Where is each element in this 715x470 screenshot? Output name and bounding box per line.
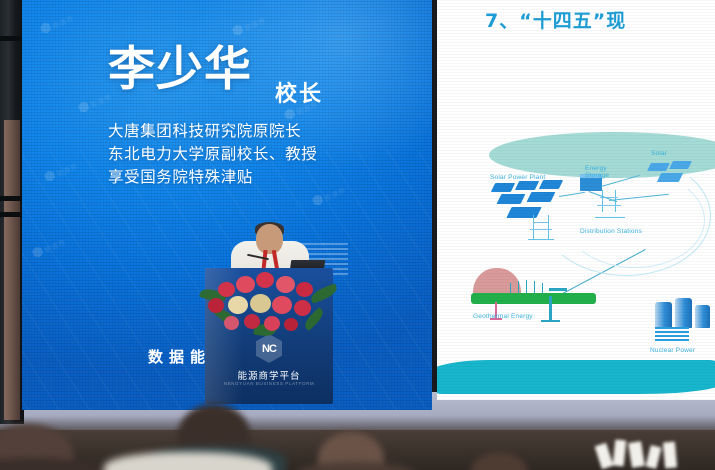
solar-panel xyxy=(497,194,526,204)
podium-logo-subtext: NENGYUAN BUSINESS PLATFORM xyxy=(205,381,333,386)
nuclear-cooling-tower xyxy=(695,305,710,328)
label-distribution-stations: Distribution Stations xyxy=(580,228,642,235)
conference-stage-scene: 能源界 能源界 能源界 能源界 能源界 能源界 能源界 能源界 李少华 校长 大… xyxy=(0,0,715,470)
geothermal-riser xyxy=(518,281,519,293)
flower-bloom xyxy=(224,316,239,330)
speaker-head xyxy=(256,224,283,254)
speaker-name: 李少华 xyxy=(108,46,252,93)
flower-bloom xyxy=(264,316,280,331)
geothermal-mountain xyxy=(473,268,521,296)
foreground-papers xyxy=(592,440,688,470)
geothermal-riser xyxy=(510,283,511,293)
geothermal-pipe xyxy=(549,296,552,322)
speaker-bio: 大唐集团科技研究院原院长 东北电力大学原副校长、教授 享受国务院特殊津贴 xyxy=(108,120,317,189)
geothermal-pipe-base xyxy=(541,320,560,322)
pillar-bracket-top xyxy=(0,36,24,41)
flower-bloom xyxy=(218,282,235,297)
paper-sheet xyxy=(613,439,627,466)
solar-panel xyxy=(491,183,515,192)
speaker-role-title: 校长 xyxy=(275,76,323,108)
bio-line: 大唐集团科技研究院原院长 xyxy=(108,120,317,143)
flower-bloom xyxy=(236,276,255,293)
nuclear-facility-bars xyxy=(655,327,689,342)
label-energy-storage-line2: Storage xyxy=(585,172,609,179)
flower-bloom xyxy=(272,296,292,314)
nuclear-cooling-tower xyxy=(675,298,692,328)
pillar-bracket-mid xyxy=(0,196,24,201)
flower-bloom xyxy=(284,318,298,331)
geothermal-riser xyxy=(534,281,535,293)
flower-bloom-cream xyxy=(250,294,271,313)
bio-line: 享受国务院特殊津贴 xyxy=(108,166,317,189)
podium-logo-initials: NC xyxy=(262,343,276,355)
paper-sheet xyxy=(628,441,645,468)
geothermal-ground xyxy=(471,293,596,304)
stage-left-pillar-highlight xyxy=(4,120,20,420)
nuclear-cooling-tower xyxy=(655,302,672,328)
paper-sheet xyxy=(595,443,614,470)
podium-logo-text: 能源商学平台 xyxy=(205,368,333,382)
pillar-bracket-mid2 xyxy=(0,212,24,217)
flower-bloom xyxy=(296,282,313,297)
flower-bloom xyxy=(276,276,295,293)
solar-panel xyxy=(515,181,539,190)
slide-bottom-swoosh xyxy=(437,360,715,394)
diagram-arc xyxy=(565,172,705,268)
geothermal-riser xyxy=(542,283,543,293)
label-nuclear-power: Nuclear Power xyxy=(650,347,695,354)
flower-bloom xyxy=(294,300,311,316)
flower-bloom xyxy=(208,298,224,313)
bio-line: 东北电力大学原副校长、教授 xyxy=(108,143,317,166)
right-slide-screen: 7、“十四五”现 xyxy=(437,0,715,400)
label-energy-storage-line1: Energy xyxy=(585,165,607,172)
watermark: 能源界 xyxy=(39,12,75,36)
label-solar: Solar xyxy=(651,150,667,157)
flower-bloom-cream xyxy=(228,296,248,314)
geothermal-header xyxy=(549,288,567,291)
label-solar-power-plant: Solar Power Plant xyxy=(490,174,545,181)
slide-title: 7、“十四五”现 xyxy=(485,6,626,33)
paper-sheet xyxy=(646,445,662,469)
flower-leaf xyxy=(309,283,339,304)
flower-bloom xyxy=(256,272,274,288)
label-geothermal-energy: Geothermal Energy xyxy=(473,313,533,320)
podium-flower-arrangement xyxy=(198,272,343,340)
flower-bloom xyxy=(244,314,260,329)
geothermal-riser xyxy=(526,280,527,293)
paper-sheet xyxy=(663,442,677,469)
